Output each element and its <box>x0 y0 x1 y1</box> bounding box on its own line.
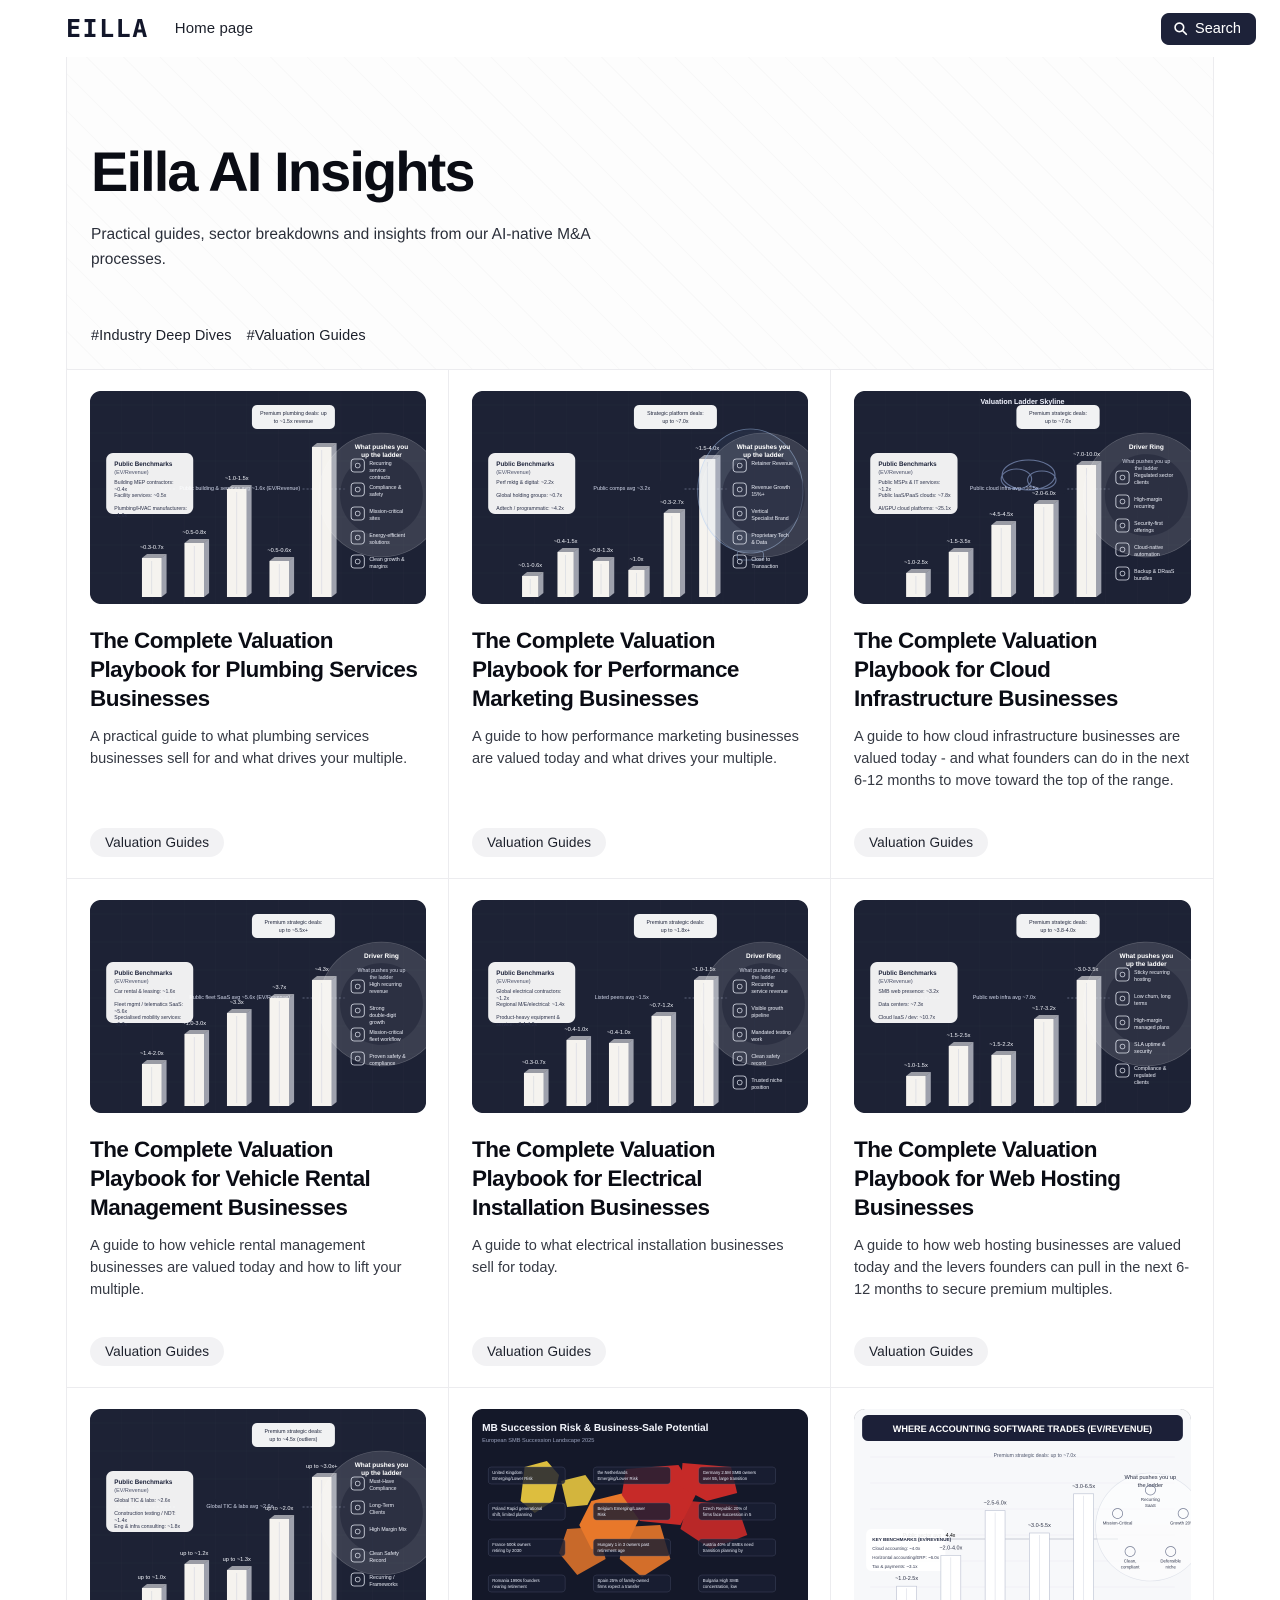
svg-text:(EV/Revenue): (EV/Revenue) <box>114 979 148 985</box>
svg-text:Vertical: Vertical <box>751 509 768 515</box>
svg-text:concentration, low: concentration, low <box>703 1584 738 1589</box>
svg-text:Public Benchmarks: Public Benchmarks <box>496 970 555 977</box>
svg-text:~0.5-0.6x: ~0.5-0.6x <box>267 548 291 554</box>
svg-text:~2.0-6.0x: ~2.0-6.0x <box>1032 491 1056 497</box>
svg-text:Valuation Ladder Skyline: Valuation Ladder Skyline <box>980 399 1064 406</box>
svg-text:Clean safety: Clean safety <box>751 1054 780 1060</box>
svg-text:European SMB Succession Landsc: European SMB Succession Landscape 2025 <box>482 1438 594 1444</box>
svg-text:the ladder: the ladder <box>370 975 394 981</box>
svg-text:firms expect a transfer: firms expect a transfer <box>597 1584 640 1589</box>
svg-text:compliant: compliant <box>1121 1565 1140 1570</box>
svg-text:~0.4-1.5x: ~0.4-1.5x <box>554 539 578 545</box>
svg-text:Strategic platform deals:: Strategic platform deals: <box>647 411 704 417</box>
svg-text:Adtech / programmatic: ~4.2x: Adtech / programmatic: ~4.2x <box>496 506 564 512</box>
svg-text:Recurring: Recurring <box>369 461 391 467</box>
svg-text:~1.5-2.5x: ~1.5-2.5x <box>947 1033 971 1039</box>
svg-text:AI/GPU cloud platforms: ~25.1x: AI/GPU cloud platforms: ~25.1x <box>878 506 951 512</box>
svg-text:~1.0-3.0x: ~1.0-3.0x <box>182 1021 206 1027</box>
article-card[interactable]: Valuation Ladder Skyline Public cloud in… <box>831 370 1213 879</box>
svg-text:pipeline: pipeline <box>751 1013 769 1019</box>
article-description: A guide to how cloud infrastructure busi… <box>854 726 1191 793</box>
svg-text:Security-first: Security-first <box>1134 521 1163 527</box>
svg-text:bundles: bundles <box>1134 576 1153 582</box>
svg-text:Proprietary Tech: Proprietary Tech <box>751 533 789 539</box>
article-description: A guide to what electrical installation … <box>472 1235 808 1279</box>
svg-text:& Data: & Data <box>751 540 767 546</box>
svg-text:to ~1.5x revenue: to ~1.5x revenue <box>274 419 313 425</box>
category-chip[interactable]: Valuation Guides <box>90 1337 224 1366</box>
svg-text:(EV/Revenue): (EV/Revenue) <box>114 1488 148 1494</box>
svg-text:clients: clients <box>1134 480 1149 486</box>
category-chip[interactable]: Valuation Guides <box>472 828 606 857</box>
svg-text:Clean growth &: Clean growth & <box>369 557 405 563</box>
svg-text:Clients: Clients <box>369 1510 385 1516</box>
svg-text:record: record <box>751 1061 766 1067</box>
svg-text:Recurring /: Recurring / <box>369 1575 395 1581</box>
article-thumbnail: Public fleet SaaS avg ~5.6x (EV/Revenue)… <box>90 900 426 1113</box>
svg-text:Regional M/E/electrical: ~1.4x: Regional M/E/electrical: ~1.4x <box>496 1002 565 1008</box>
svg-text:Premium strategic deals:: Premium strategic deals: <box>647 920 705 926</box>
svg-text:Listed peers avg ~1.5x: Listed peers avg ~1.5x <box>595 995 649 1001</box>
category-chip[interactable]: Valuation Guides <box>854 1337 988 1366</box>
svg-text:up the ladder: up the ladder <box>361 1470 402 1477</box>
svg-text:Austria 40% of SMEs need: Austria 40% of SMEs need <box>703 1542 754 1547</box>
article-thumbnail: MB Succession Risk & Business-Sale Poten… <box>472 1409 808 1600</box>
svg-text:growth: growth <box>369 1020 385 1026</box>
article-card[interactable]: Listed peers avg ~1.5xPremium strategic … <box>449 879 831 1388</box>
svg-text:up to ~7.0x: up to ~7.0x <box>662 419 689 425</box>
svg-text:Construction testing / NDT:: Construction testing / NDT: <box>114 1511 175 1517</box>
svg-text:KEY BENCHMARKS (EV/REVENUE): KEY BENCHMARKS (EV/REVENUE) <box>872 1537 951 1542</box>
svg-text:Global TIC & labs avg ~2.6x: Global TIC & labs avg ~2.6x <box>206 1504 273 1510</box>
svg-text:nearing retirement: nearing retirement <box>492 1584 527 1589</box>
svg-text:Frameworks: Frameworks <box>369 1582 398 1588</box>
svg-text:Public IaaS/PaaS clouds: ~7.8x: Public IaaS/PaaS clouds: ~7.8x <box>878 493 951 499</box>
svg-text:Transaction: Transaction <box>751 564 778 570</box>
category-chip[interactable]: Valuation Guides <box>90 828 224 857</box>
page-subtitle: Practical guides, sector breakdowns and … <box>91 222 666 272</box>
svg-text:~1.5-3.5x: ~1.5-3.5x <box>947 539 971 545</box>
svg-text:What pushes you: What pushes you <box>737 444 791 451</box>
svg-text:What pushes you: What pushes you <box>355 444 409 451</box>
svg-text:Regulated sector: Regulated sector <box>1134 473 1173 479</box>
svg-text:Public Benchmarks: Public Benchmarks <box>114 1479 173 1486</box>
svg-text:Public Benchmarks: Public Benchmarks <box>496 461 555 468</box>
svg-text:Cloud-native: Cloud-native <box>1134 545 1163 551</box>
svg-text:SaaS: SaaS <box>1145 1503 1156 1508</box>
svg-text:~1.0-2.5x: ~1.0-2.5x <box>904 560 928 566</box>
svg-text:Clean Safety: Clean Safety <box>369 1551 399 1557</box>
svg-text:Tax & payments: ~3.1x: Tax & payments: ~3.1x <box>872 1564 918 1569</box>
article-card[interactable]: MB Succession Risk & Business-Sale Poten… <box>449 1388 831 1600</box>
svg-text:up to ~5.5x+: up to ~5.5x+ <box>279 928 308 934</box>
article-thumbnail: WHERE ACCOUNTING SOFTWARE TRADES (EV/REV… <box>854 1409 1191 1600</box>
svg-text:margins: margins <box>369 564 388 570</box>
svg-text:Public cloud infra avg ~10.5x: Public cloud infra avg ~10.5x <box>970 486 1039 492</box>
tag-filter-list: #Industry Deep Dives #Valuation Guides <box>91 328 366 344</box>
svg-text:transition planning by: transition planning by <box>703 1548 744 1553</box>
article-footer: Valuation Guides <box>854 1313 1191 1366</box>
svg-text:Plumbing/HVAC manufacturers:: Plumbing/HVAC manufacturers: <box>114 506 187 512</box>
svg-text:Public web infra avg ~7.0x: Public web infra avg ~7.0x <box>973 995 1036 1001</box>
svg-text:Must-Have: Must-Have <box>369 1479 394 1485</box>
tag-industry-deep-dives[interactable]: #Industry Deep Dives <box>91 328 232 344</box>
svg-text:recurring: recurring <box>1134 504 1155 510</box>
page-title: Eilla AI Insights <box>91 143 1213 201</box>
svg-text:up to ~4.5x (outliers): up to ~4.5x (outliers) <box>269 1437 317 1443</box>
eilla-logo[interactable]: EILLA <box>66 16 149 41</box>
svg-text:Perf mktg & digital: ~2.2x: Perf mktg & digital: ~2.2x <box>496 480 554 486</box>
svg-text:WHERE ACCOUNTING SOFTWARE TRAD: WHERE ACCOUNTING SOFTWARE TRADES (EV/REV… <box>893 1424 1152 1434</box>
svg-text:United Kingdom: United Kingdom <box>492 1470 523 1475</box>
svg-text:Hungary 1 in 3 owners past: Hungary 1 in 3 owners past <box>597 1542 649 1547</box>
svg-text:the Netherlands: the Netherlands <box>597 1470 627 1475</box>
svg-text:safety: safety <box>369 492 383 498</box>
svg-text:Premium plumbing deals: up: Premium plumbing deals: up <box>260 411 327 417</box>
article-card[interactable]: Public fleet SaaS avg ~5.6x (EV/Revenue)… <box>67 879 449 1388</box>
svg-text:Public Benchmarks: Public Benchmarks <box>114 970 173 977</box>
svg-text:revenue: revenue <box>369 989 388 995</box>
svg-text:~2.5-6.0x: ~2.5-6.0x <box>984 1501 1007 1507</box>
svg-text:Horizontal accounting/ERP: ~6.: Horizontal accounting/ERP: ~6.0x <box>872 1555 940 1560</box>
svg-text:Visible growth: Visible growth <box>751 1006 783 1012</box>
article-description: A guide to how web hosting businesses ar… <box>854 1235 1191 1302</box>
svg-text:~1.0x: ~1.0x <box>629 557 643 563</box>
svg-text:clients: clients <box>1134 1080 1149 1086</box>
svg-text:~1.0-1.5x: ~1.0-1.5x <box>225 476 249 482</box>
svg-text:~3.0-6.5x: ~3.0-6.5x <box>1072 1484 1095 1490</box>
article-title[interactable]: The Complete Valuation Playbook for Plum… <box>90 626 426 713</box>
svg-text:~3.3x: ~3.3x <box>230 1000 244 1006</box>
svg-text:SLA uptime &: SLA uptime & <box>1134 1042 1166 1048</box>
svg-text:~1.7-3.2x: ~1.7-3.2x <box>1032 1006 1056 1012</box>
svg-text:Mission-critical: Mission-critical <box>369 1030 403 1036</box>
svg-text:~0.5-0.8x: ~0.5-0.8x <box>182 530 206 536</box>
svg-text:Energy-efficient: Energy-efficient <box>369 533 405 539</box>
svg-text:Global TIC & labs: ~2.6x: Global TIC & labs: ~2.6x <box>114 1498 170 1504</box>
article-thumbnail: Public web infra avg ~7.0xPremium strate… <box>854 900 1191 1113</box>
svg-text:Romania 1990s founders: Romania 1990s founders <box>492 1578 539 1583</box>
svg-text:the ladder: the ladder <box>1138 1483 1163 1489</box>
svg-text:Germany 2.5M SMB owners: Germany 2.5M SMB owners <box>703 1470 756 1475</box>
svg-text:Proven safety &: Proven safety & <box>369 1054 406 1060</box>
tag-valuation-guides[interactable]: #Valuation Guides <box>247 328 366 344</box>
svg-text:Record: Record <box>369 1558 386 1564</box>
article-thumbnail: Valuation Ladder Skyline Public cloud in… <box>854 391 1191 604</box>
search-icon <box>1173 21 1188 36</box>
svg-text:regulated: regulated <box>1134 1073 1156 1079</box>
svg-text:Public Benchmarks: Public Benchmarks <box>114 461 173 468</box>
svg-text:Spain 25% of family-owned: Spain 25% of family-owned <box>597 1578 649 1583</box>
svg-text:up the ladder: up the ladder <box>361 452 402 459</box>
svg-text:up to ~1.3x: up to ~1.3x <box>223 1557 251 1563</box>
svg-text:~1.6x: ~1.6x <box>114 513 127 519</box>
svg-text:Driver Ring: Driver Ring <box>364 953 399 960</box>
svg-text:terms: terms <box>1134 1001 1147 1007</box>
svg-text:Low churn, long: Low churn, long <box>1134 994 1171 1000</box>
svg-text:~3.7x: ~3.7x <box>272 985 286 991</box>
article-footer: Valuation Guides <box>854 804 1191 857</box>
svg-text:What pushes you: What pushes you <box>1119 953 1173 960</box>
article-thumbnail: Public building & services avg ~1.6x (EV… <box>90 391 426 604</box>
svg-text:Cloud IaaS / dev: ~10.7x: Cloud IaaS / dev: ~10.7x <box>878 1015 935 1021</box>
svg-text:Mission-Critical: Mission-Critical <box>1103 1521 1133 1526</box>
category-chip[interactable]: Valuation Guides <box>472 1337 606 1366</box>
svg-text:Czech Republic 20% of: Czech Republic 20% of <box>703 1506 748 1511</box>
svg-text:Emerging/Lower Risk: Emerging/Lower Risk <box>492 1476 533 1481</box>
svg-text:the ladder: the ladder <box>752 975 776 981</box>
svg-text:Bulgaria High SMB: Bulgaria High SMB <box>703 1578 739 1583</box>
article-thumbnail: Global TIC & labs avg ~2.6xPremium strat… <box>90 1409 426 1600</box>
article-card[interactable]: Public web infra avg ~7.0xPremium strate… <box>831 879 1213 1388</box>
search-button-label: Search <box>1195 21 1241 37</box>
svg-text:Premium strategic deals:: Premium strategic deals: <box>1029 411 1087 417</box>
svg-text:~0.4-1.0x: ~0.4-1.0x <box>564 1027 588 1033</box>
svg-text:up to ~3.0x+: up to ~3.0x+ <box>306 1464 337 1470</box>
article-grid: Public building & services avg ~1.6x (EV… <box>66 369 1214 1600</box>
svg-text:What pushes you up: What pushes you up <box>1125 1475 1177 1481</box>
svg-text:~0.3-0.7x: ~0.3-0.7x <box>140 545 164 551</box>
svg-text:retirement age: retirement age <box>597 1548 625 1553</box>
article-thumbnail: Public comps avg ~3.2xStrategic platform… <box>472 391 808 604</box>
svg-text:up to ~1.2x: up to ~1.2x <box>180 1551 208 1557</box>
svg-text:niche: niche <box>1165 1565 1176 1570</box>
article-card[interactable]: Public comps avg ~3.2xStrategic platform… <box>449 370 831 879</box>
svg-text:SMB web presence: ~3.2x: SMB web presence: ~3.2x <box>878 989 939 995</box>
svg-text:Fleet mgmt / telematics SaaS:: Fleet mgmt / telematics SaaS: <box>114 1002 183 1008</box>
svg-text:sites: sites <box>369 516 380 522</box>
svg-text:Car rental & leasing: ~1.6x: Car rental & leasing: ~1.6x <box>114 989 175 995</box>
insights-page: EILLA Home page Search Eilla AI Insights… <box>0 0 1280 1600</box>
svg-text:double-digit: double-digit <box>369 1013 396 1019</box>
svg-text:Driver Ring: Driver Ring <box>1129 444 1164 451</box>
svg-text:Public Benchmarks: Public Benchmarks <box>878 461 937 468</box>
svg-text:Compliance: Compliance <box>369 1486 396 1492</box>
svg-text:Defensible: Defensible <box>1160 1559 1181 1564</box>
article-footer: Valuation Guides <box>90 804 426 857</box>
svg-text:Global holding groups: ~0.7x: Global holding groups: ~0.7x <box>496 493 562 499</box>
svg-text:Premium strategic deals:: Premium strategic deals: <box>1029 920 1087 926</box>
svg-text:~1.0-1.5x: ~1.0-1.5x <box>904 1063 928 1069</box>
svg-text:Public comps avg ~3.2x: Public comps avg ~3.2x <box>593 486 650 492</box>
svg-text:compliance: compliance <box>369 1061 395 1067</box>
svg-text:Premium strategic deals: up to: Premium strategic deals: up to ~7.0x <box>994 1453 1077 1459</box>
svg-text:Specialised mobility services:: Specialised mobility services: <box>114 1015 181 1021</box>
svg-text:France 500k owners: France 500k owners <box>492 1542 530 1547</box>
svg-text:offerings: offerings <box>1134 528 1154 534</box>
svg-text:up to ~3.8-4.0x: up to ~3.8-4.0x <box>1040 928 1076 934</box>
article-description: A practical guide to what plumbing servi… <box>90 726 426 770</box>
svg-text:Compliance &: Compliance & <box>1134 1066 1167 1072</box>
svg-text:Mission-critical: Mission-critical <box>369 509 403 515</box>
svg-text:Compliance &: Compliance & <box>369 485 402 491</box>
svg-text:(EV/Revenue): (EV/Revenue) <box>878 979 913 985</box>
article-card[interactable]: Public building & services avg ~1.6x (EV… <box>67 370 449 879</box>
svg-text:automation: automation <box>1134 552 1160 558</box>
article-card[interactable]: Global TIC & labs avg ~2.6xPremium strat… <box>67 1388 449 1600</box>
article-footer: Valuation Guides <box>472 1313 808 1366</box>
svg-text:~0.1-0.6x: ~0.1-0.6x <box>518 563 542 569</box>
svg-text:Public Benchmarks: Public Benchmarks <box>878 970 937 977</box>
svg-text:Poland Rapid generational: Poland Rapid generational <box>492 1506 542 1511</box>
svg-text:Growth 20%+: Growth 20%+ <box>1170 1521 1191 1526</box>
svg-text:Recurring: Recurring <box>1141 1497 1160 1502</box>
svg-text:service revenue: service revenue <box>751 989 788 995</box>
svg-text:retiring by 2030: retiring by 2030 <box>492 1548 522 1553</box>
svg-text:security: security <box>1134 1049 1152 1055</box>
svg-text:High-margin: High-margin <box>1134 1018 1162 1024</box>
svg-text:Specialist Brand: Specialist Brand <box>751 516 788 522</box>
svg-text:What pushes you up: What pushes you up <box>1122 459 1170 465</box>
svg-text:position: position <box>751 1085 769 1091</box>
article-card[interactable]: WHERE ACCOUNTING SOFTWARE TRADES (EV/REV… <box>831 1388 1213 1600</box>
top-navigation: EILLA Home page Search <box>0 0 1280 57</box>
svg-text:15%+: 15%+ <box>751 492 764 498</box>
svg-text:Cloud accounting: ~4.0x: Cloud accounting: ~4.0x <box>872 1546 921 1551</box>
svg-text:Premium strategic deals:: Premium strategic deals: <box>265 920 323 926</box>
svg-text:up to ~1.8x+: up to ~1.8x+ <box>661 928 690 934</box>
svg-text:Product-heavy equipment &: Product-heavy equipment & <box>496 1015 560 1021</box>
svg-text:(EV/Revenue): (EV/Revenue) <box>496 470 530 476</box>
svg-text:What pushes you up: What pushes you up <box>740 968 788 974</box>
svg-text:What pushes you up: What pushes you up <box>358 968 406 974</box>
category-chip[interactable]: Valuation Guides <box>854 828 988 857</box>
svg-text:Eng & infra consulting: ~1.8x: Eng & infra consulting: ~1.8x <box>114 1524 180 1530</box>
svg-text:fleet workflow: fleet workflow <box>369 1037 401 1043</box>
svg-text:Strong: Strong <box>369 1006 384 1012</box>
hero-section: Eilla AI Insights Practical guides, sect… <box>66 57 1214 369</box>
svg-text:What pushes you: What pushes you <box>355 1462 409 1469</box>
article-footer: Valuation Guides <box>472 804 808 857</box>
svg-text:Driver Ring: Driver Ring <box>746 953 781 960</box>
svg-text:Mandated testing: Mandated testing <box>751 1030 791 1036</box>
article-description: A guide to how performance marketing bus… <box>472 726 808 770</box>
svg-text:work: work <box>751 1037 762 1043</box>
svg-text:High recurring: High recurring <box>369 982 402 988</box>
svg-text:up to ~2.0x: up to ~2.0x <box>265 1506 293 1512</box>
svg-text:Premium strategic deals:: Premium strategic deals: <box>265 1429 323 1435</box>
svg-text:(EV/Revenue): (EV/Revenue) <box>114 470 148 476</box>
svg-text:Close to: Close to <box>751 557 770 563</box>
svg-text:up to ~1.0x: up to ~1.0x <box>138 1575 166 1581</box>
article-title[interactable]: The Complete Valuation Playbook for Elec… <box>472 1135 808 1222</box>
svg-text:up to ~7.0x: up to ~7.0x <box>1045 419 1072 425</box>
svg-text:Building MEP contractors:: Building MEP contractors: <box>114 480 173 486</box>
svg-text:shift, limited planning: shift, limited planning <box>492 1512 532 1517</box>
svg-text:~1.4-2.0x: ~1.4-2.0x <box>140 1051 164 1057</box>
svg-text:firms face succession in 5: firms face succession in 5 <box>703 1512 752 1517</box>
svg-text:Risk: Risk <box>597 1512 606 1517</box>
svg-text:Long-Term: Long-Term <box>369 1503 394 1509</box>
svg-text:(EV/Revenue): (EV/Revenue) <box>496 979 530 985</box>
svg-text:~6.7x: ~6.7x <box>114 1022 127 1028</box>
article-title[interactable]: The Complete Valuation Playbook for Vehi… <box>90 1135 426 1222</box>
svg-text:managed plans: managed plans <box>1134 1025 1170 1031</box>
article-title[interactable]: The Complete Valuation Playbook for Web … <box>854 1135 1191 1222</box>
svg-text:solutions: solutions <box>369 540 390 546</box>
svg-text:Emerging/Lower Risk: Emerging/Lower Risk <box>597 1476 638 1481</box>
svg-text:~1.5-2.2x: ~1.5-2.2x <box>989 1042 1013 1048</box>
article-title[interactable]: The Complete Valuation Playbook for Perf… <box>472 626 808 713</box>
svg-text:up the ladder: up the ladder <box>743 452 784 459</box>
svg-text:Global electrical contractors:: Global electrical contractors: <box>496 989 561 995</box>
svg-text:contracts: contracts <box>369 475 390 481</box>
article-footer: Valuation Guides <box>90 1313 426 1366</box>
nav-link-home[interactable]: Home page <box>175 20 253 37</box>
svg-text:~2.0-4.0x: ~2.0-4.0x <box>939 1545 962 1551</box>
svg-text:up the ladder: up the ladder <box>1126 961 1167 968</box>
svg-text:Data centers: ~7.3x: Data centers: ~7.3x <box>878 1002 923 1008</box>
svg-text:over 55, large transition: over 55, large transition <box>703 1476 748 1481</box>
svg-text:Recurring: Recurring <box>751 982 773 988</box>
search-button[interactable]: Search <box>1161 13 1256 45</box>
svg-text:Sticky recurring: Sticky recurring <box>1134 970 1170 976</box>
svg-text:~4.3x: ~4.3x <box>315 967 329 973</box>
svg-text:~0.4-1.0x: ~0.4-1.0x <box>607 1030 631 1036</box>
svg-text:~3.0-5.5x: ~3.0-5.5x <box>1028 1523 1051 1529</box>
svg-text:~7.0-10.0x: ~7.0-10.0x <box>1073 452 1100 458</box>
svg-text:the ladder: the ladder <box>1135 466 1159 472</box>
svg-text:service: ~3.4-4.2x: service: ~3.4-4.2x <box>496 1022 537 1028</box>
svg-text:Trusted niche: Trusted niche <box>751 1078 782 1084</box>
svg-text:hosting: hosting <box>1134 977 1151 983</box>
svg-text:(EV/Revenue): (EV/Revenue) <box>878 470 913 476</box>
svg-text:~4.5-4.5x: ~4.5-4.5x <box>989 512 1013 518</box>
svg-text:Facility services: ~0.5x: Facility services: ~0.5x <box>114 493 166 499</box>
article-thumbnail: Listed peers avg ~1.5xPremium strategic … <box>472 900 808 1113</box>
svg-text:~1.0-2.5x: ~1.0-2.5x <box>895 1576 918 1582</box>
svg-text:Public MSPs & IT services:: Public MSPs & IT services: <box>878 480 940 486</box>
svg-text:~0.7-1.2x: ~0.7-1.2x <box>649 1003 673 1009</box>
svg-text:~0.3-0.7x: ~0.3-0.7x <box>522 1060 546 1066</box>
svg-text:service: service <box>369 468 385 474</box>
svg-text:Backup & DRaaS: Backup & DRaaS <box>1134 569 1175 575</box>
svg-text:Belgium Emerging/Lower: Belgium Emerging/Lower <box>597 1506 645 1511</box>
article-description: A guide to how vehicle rental management… <box>90 1235 426 1302</box>
svg-text:~0.8-1.3x: ~0.8-1.3x <box>589 548 613 554</box>
svg-text:~0.3-2.7x: ~0.3-2.7x <box>660 500 684 506</box>
article-title[interactable]: The Complete Valuation Playbook for Clou… <box>854 626 1191 713</box>
svg-text:High Margin Mix: High Margin Mix <box>369 1527 407 1533</box>
svg-text:Retainer Revenue: Retainer Revenue <box>751 461 793 467</box>
svg-text:MB Succession Risk & Business-: MB Succession Risk & Business-Sale Poten… <box>482 1423 709 1434</box>
svg-text:Clean,: Clean, <box>1124 1559 1137 1564</box>
svg-text:High-margin: High-margin <box>1134 497 1162 503</box>
svg-text:Revenue Growth: Revenue Growth <box>751 485 790 491</box>
